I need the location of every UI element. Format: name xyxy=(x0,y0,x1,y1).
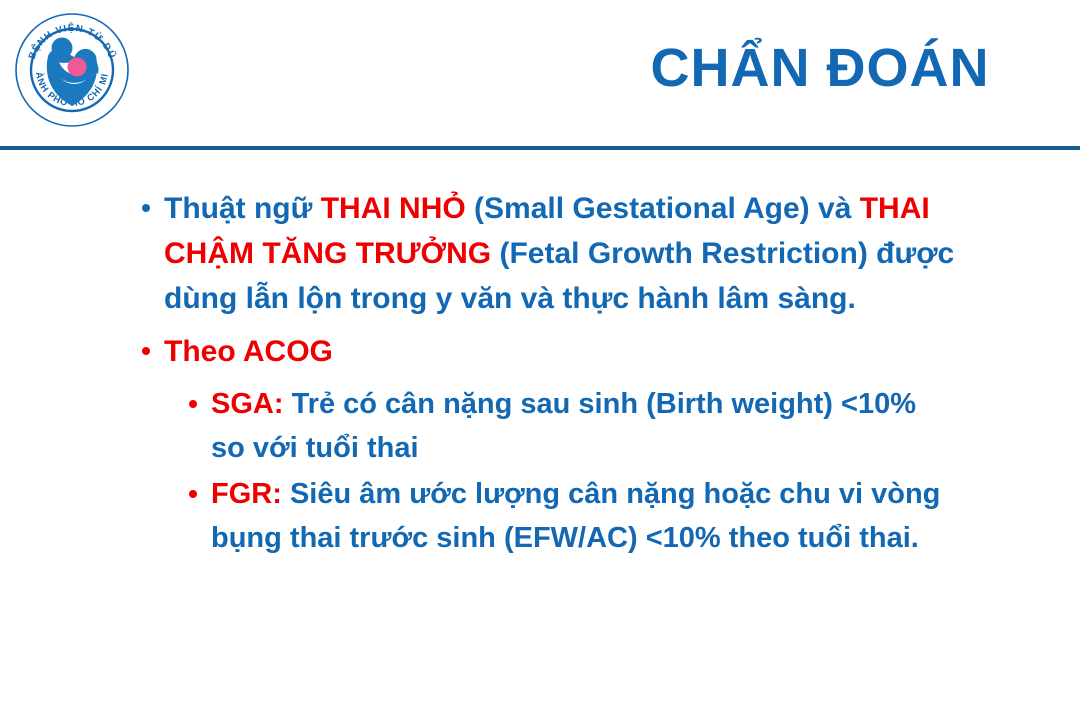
fgr-label: FGR: xyxy=(211,478,282,510)
header-divider xyxy=(0,146,1080,150)
bullet-marker-icon xyxy=(189,490,197,498)
page-title: CHẨN ĐOÁN xyxy=(620,37,1020,99)
terminology-seg1: Thuật ngữ xyxy=(164,192,321,225)
bullet-sga: SGA: Trẻ có cân nặng sau sinh (Birth wei… xyxy=(185,382,951,470)
bullet-fgr: FGR: Siêu âm ước lượng cân nặng hoặc chu… xyxy=(185,472,951,560)
bullet-marker-icon xyxy=(142,204,150,212)
sga-label: SGA: xyxy=(211,388,284,420)
terminology-seg3: (Small Gestational Age) và xyxy=(474,192,860,225)
acog-label: Theo ACOG xyxy=(164,335,333,368)
sga-description: Trẻ có cân nặng sau sinh (Birth weight) … xyxy=(211,388,916,464)
bullet-marker-icon xyxy=(189,400,197,408)
bullet-marker-icon xyxy=(142,347,150,355)
bullet-acog: Theo ACOG xyxy=(138,329,964,374)
terminology-sga-term: THAI NHỎ xyxy=(321,192,466,225)
slide-body: Thuật ngữ THAI NHỎ (Small Gestational Ag… xyxy=(0,186,1080,560)
tu-du-hospital-logo: BỆNH VIỆN TỪ DŨ THÀNH PHỐ HỒ CHÍ MINH xyxy=(14,12,130,128)
fgr-description: Siêu âm ước lượng cân nặng hoặc chu vi v… xyxy=(211,478,940,554)
slide-header: BỆNH VIỆN TỪ DŨ THÀNH PHỐ HỒ CHÍ MINH xyxy=(0,0,1080,148)
bullet-terminology: Thuật ngữ THAI NHỎ (Small Gestational Ag… xyxy=(138,186,964,321)
